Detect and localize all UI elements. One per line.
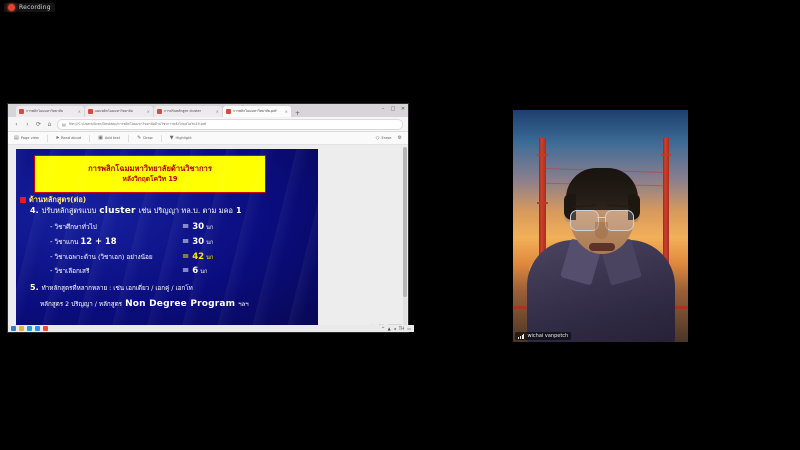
highlight-icon: ▼ [170, 135, 174, 141]
file-icon: ▤ [62, 122, 66, 127]
item-trailing-number: 1 [236, 206, 242, 215]
eyeglasses-bridge [597, 217, 606, 218]
address-bar[interactable]: ▤ file:///C:/Users/Acer/Desktop/การพลิกโ… [57, 119, 403, 130]
close-tab-icon[interactable]: × [147, 109, 150, 114]
credit-label-number: 12 + 18 [80, 236, 116, 246]
settings-gear-icon[interactable]: ⚙ [398, 135, 402, 141]
nose [595, 222, 608, 239]
pdf-favicon-icon [226, 109, 231, 114]
pdf-toolbar-right: ◇ Erase ⚙ [376, 135, 402, 141]
tray-expand-icon[interactable]: ^ [381, 326, 384, 331]
browser-window: การพลิกโฉมมหาวิทยาลัย × แผนพลิกโฉมมหาวิท… [8, 104, 408, 332]
tab-title: แผนพลิกโฉมมหาวิทยาลัย [95, 109, 133, 114]
close-tab-icon[interactable]: × [285, 109, 288, 114]
slide-item-4: 4. ปรับหลักสูตรแบบ cluster เช่น ปริญญา ท… [30, 205, 312, 217]
eyeglasses-right-lens [605, 210, 634, 231]
read-aloud-icon: 🕪 [56, 135, 59, 141]
browser-tab-bar: การพลิกโฉมมหาวิทยาลัย × แผนพลิกโฉมมหาวิท… [8, 104, 408, 117]
recording-dot-icon [8, 4, 15, 11]
item-text-after: เช่น ปริญญา ทล.บ. ตาม มคอ [139, 205, 233, 217]
credit-value: = 30 [182, 237, 204, 247]
system-tray: ^ ▲ ◂ TH ▭ [381, 326, 411, 331]
dash-bullet: - [50, 223, 53, 231]
presentation-slide: การพลิกโฉมมหาวิทยาลัยด้านวิชาการ หลังวิก… [16, 149, 318, 332]
minimize-button[interactable]: – [380, 106, 386, 112]
close-tab-icon[interactable]: × [78, 109, 81, 114]
participant-video [513, 110, 688, 342]
credit-label: วิชาเฉพาะด้าน (วิชาเอก) อย่างน้อย [55, 252, 153, 262]
slide-body: 4. ปรับหลักสูตรแบบ cluster เช่น ปริญญา ท… [26, 205, 312, 309]
credit-unit: นก [206, 224, 213, 232]
window-controls: – □ ✕ [380, 106, 406, 112]
toolbar-divider [161, 135, 162, 142]
pdf-tool-add-text[interactable]: ▣ Add text [98, 135, 120, 141]
address-bar-url: file:///C:/Users/Acer/Desktop/การพลิกโฉม… [69, 122, 206, 127]
pdf-viewport[interactable]: การพลิกโฉมมหาวิทยาลัยด้านวิชาการ หลังวิก… [8, 145, 408, 332]
recording-indicator: Recording [4, 3, 55, 12]
back-icon[interactable]: ‹ [13, 121, 20, 128]
dash-bullet: - [50, 267, 53, 275]
explorer-icon[interactable] [19, 326, 24, 331]
credit-label: วิชาเลือกเสรี [55, 266, 90, 276]
browser-tab-active[interactable]: การพลิกโฉมมหาวิทยาลัย.pdf × [223, 106, 291, 117]
pdf-tool-read-aloud[interactable]: 🕪 Read aloud [56, 135, 81, 141]
credit-unit: นก [206, 239, 213, 247]
slide-title-line1: การพลิกโฉมมหาวิทยาลัยด้านวิชาการ [88, 165, 212, 173]
credit-label: วิชาศึกษาทั่วไป [55, 222, 97, 232]
slide-title-box: การพลิกโฉมมหาวิทยาลัยด้านวิชาการ หลังวิก… [34, 155, 266, 193]
item-keyword: cluster [99, 206, 135, 216]
close-window-button[interactable]: ✕ [400, 106, 406, 112]
participant-torso [527, 240, 675, 342]
pdf-tool-erase[interactable]: ◇ Erase [376, 135, 392, 141]
network-icon[interactable]: ▲ [388, 326, 391, 331]
toolbar-divider [128, 135, 129, 142]
item-keyword: Non Degree Program [125, 299, 235, 309]
pdf-favicon-icon [157, 109, 162, 114]
pdf-favicon-icon [19, 109, 24, 114]
lang-icon[interactable]: TH [399, 326, 404, 331]
chrome-icon[interactable] [43, 326, 48, 331]
browser-tab[interactable]: แผนพลิกโฉมมหาวิทยาลัย × [85, 106, 153, 117]
pdf-tool-label: Page view [21, 136, 39, 140]
dash-bullet: - [50, 253, 53, 261]
credit-label: วิชาแกน [55, 237, 79, 247]
recording-label: Recording [19, 4, 51, 11]
red-square-bullet-icon [20, 197, 26, 203]
slide-title-line2: หลังวิกฤตโควิท 19 [122, 176, 177, 183]
pdf-toolbar: ▤ Page view 🕪 Read aloud ▣ Add text ✎ Dr… [8, 132, 408, 145]
erase-icon: ◇ [376, 135, 380, 141]
credit-row: - วิชาศึกษาทั่วไป = 30 นก [50, 222, 312, 232]
zoom-icon[interactable] [35, 326, 40, 331]
credit-value: = 6 [182, 266, 198, 276]
draw-icon: ✎ [137, 135, 141, 141]
pdf-tool-draw[interactable]: ✎ Draw [137, 135, 153, 141]
pdf-scrollbar-thumb[interactable] [403, 147, 407, 297]
new-tab-button[interactable]: + [292, 110, 303, 117]
home-icon[interactable]: ⌂ [46, 121, 53, 128]
volume-icon[interactable]: ◂ [394, 326, 396, 331]
add-text-icon: ▣ [98, 135, 103, 141]
windows-taskbar: ^ ▲ ◂ TH ▭ [8, 325, 414, 332]
pdf-tool-page-view[interactable]: ▤ Page view [14, 135, 39, 141]
tab-title: การพลิกโฉมมหาวิทยาลัย [26, 109, 63, 114]
item-text-before: หลักสูตร 2 ปริญญา / หลักสูตร [40, 299, 122, 309]
page-view-icon: ▤ [14, 135, 19, 141]
credit-value: = 42 [182, 252, 204, 262]
tab-title: การปรับหลักสูตร cluster [164, 109, 201, 114]
item-text-before: ปรับหลักสูตรแบบ [42, 205, 97, 217]
pdf-scrollbar[interactable] [403, 147, 407, 330]
credit-row-highlighted: - วิชาเฉพาะด้าน (วิชาเอก) อย่างน้อย = 42… [50, 252, 312, 262]
item-number: 4. [30, 206, 39, 215]
pdf-tool-label: Read aloud [61, 136, 81, 140]
credit-row: - วิชาแกน 12 + 18 = 30 นก [50, 236, 312, 247]
item-tail: ฯลฯ [238, 299, 248, 309]
pdf-tool-label: Add text [105, 136, 120, 140]
browser-nav-bar: ‹ › ⟳ ⌂ ▤ file:///C:/Users/Acer/Desktop/… [8, 117, 408, 132]
browser-tab[interactable]: การปรับหลักสูตร cluster × [154, 106, 222, 117]
credit-unit: นก [200, 268, 207, 276]
video-tile[interactable]: wichai vanpetch [513, 110, 688, 342]
pdf-tool-label: Erase [381, 136, 391, 140]
pdf-tool-highlight[interactable]: ▼ Highlight [170, 135, 192, 141]
item-text: ทำหลักสูตรที่หลากหลาย : เช่น เอกเดี่ยว /… [42, 283, 193, 293]
tab-title: การพลิกโฉมมหาวิทยาลัย.pdf [233, 109, 277, 114]
item-number: 5. [30, 283, 39, 292]
participant-name: wichai vanpetch [527, 333, 568, 339]
clock-icon[interactable]: ▭ [407, 326, 411, 331]
pdf-favicon-icon [88, 109, 93, 114]
credit-unit: นก [206, 254, 213, 262]
pdf-tool-label: Draw [143, 136, 152, 140]
mouth [589, 243, 615, 251]
signal-bars-icon [518, 334, 524, 339]
dash-bullet: - [50, 238, 53, 246]
credit-row: - วิชาเลือกเสรี = 6 นก [50, 266, 312, 276]
close-tab-icon[interactable]: × [216, 109, 219, 114]
browser-tab[interactable]: การพลิกโฉมมหาวิทยาลัย × [16, 106, 84, 117]
pdf-tool-label: Highlight [176, 136, 192, 140]
forward-icon[interactable]: › [24, 121, 31, 128]
participant-name-tag: wichai vanpetch [515, 332, 571, 340]
edge-icon[interactable] [27, 326, 32, 331]
screen-root: Recording การพลิกโฉมมหาวิทยาลัย × แผนพลิ… [0, 0, 800, 450]
maximize-button[interactable]: □ [390, 106, 396, 112]
toolbar-divider [89, 135, 90, 142]
start-icon[interactable] [11, 326, 16, 331]
slide-item-5: 5. ทำหลักสูตรที่หลากหลาย : เช่น เอกเดี่ย… [30, 283, 312, 293]
toolbar-divider [47, 135, 48, 142]
slide-item-6: หลักสูตร 2 ปริญญา / หลักสูตร Non Degree … [40, 299, 312, 309]
credit-value: = 30 [182, 222, 204, 232]
refresh-icon[interactable]: ⟳ [35, 121, 42, 128]
